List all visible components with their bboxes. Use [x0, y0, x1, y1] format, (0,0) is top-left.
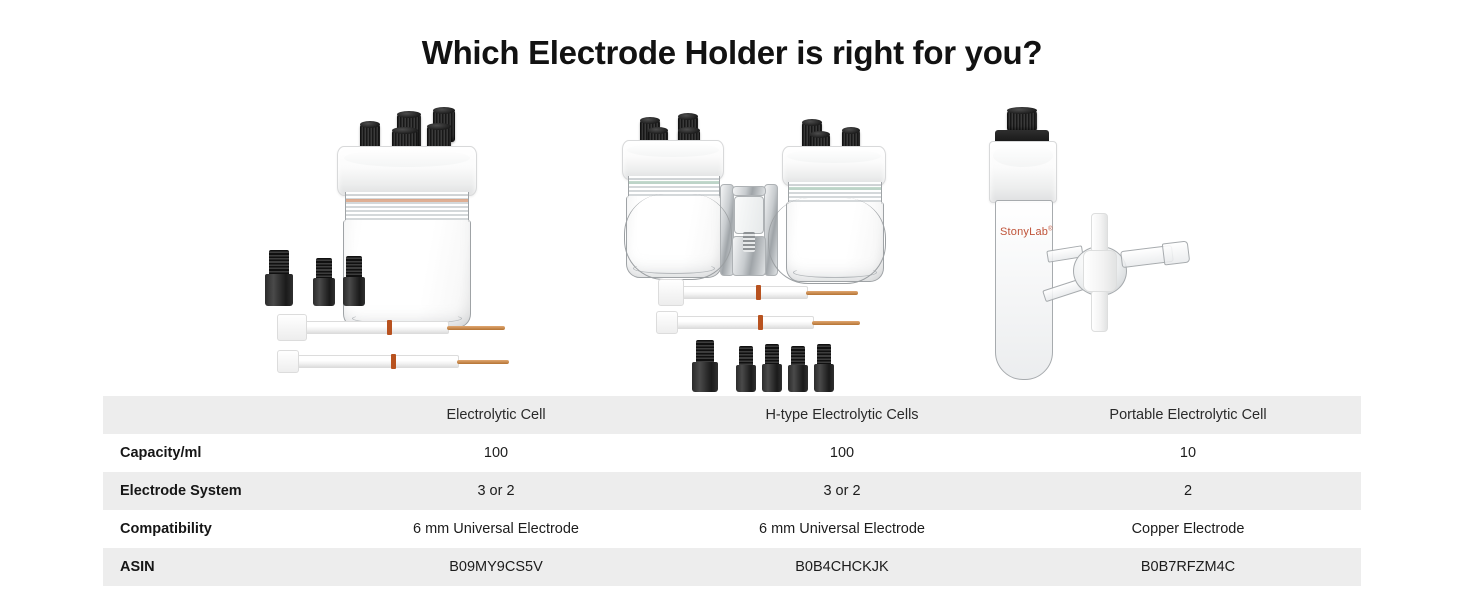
neck-band	[346, 199, 468, 202]
comparison-page: Which Electrode Holder is right for you?	[0, 0, 1464, 600]
cell-compatibility-col-1: 6 mm Universal Electrode	[323, 521, 669, 537]
black-fitting-large	[692, 340, 718, 392]
brand-text: StonyLab	[1000, 226, 1048, 238]
ptfe-lid	[782, 146, 886, 186]
cell-capacity-col-1: 100	[323, 445, 669, 461]
hose-barb-tip	[1162, 240, 1190, 265]
black-fitting-small	[343, 256, 365, 306]
brand-label: StonyLab®	[1000, 226, 1053, 238]
black-fitting-small	[762, 344, 782, 392]
black-fitting-small	[313, 258, 335, 306]
page-title: Which Electrode Holder is right for you?	[0, 34, 1464, 72]
electrode-rod	[660, 286, 808, 299]
registered-mark: ®	[1048, 226, 1053, 232]
row-label-electrode-system: Electrode System	[103, 483, 323, 499]
clamp-arm	[768, 198, 886, 284]
electrode-rod	[279, 355, 459, 368]
black-fitting-small	[814, 344, 834, 392]
black-fitting-small	[788, 346, 808, 392]
stopcock-handle-bottom	[1091, 290, 1108, 332]
table-header-col-3: Portable Electrolytic Cell	[1015, 407, 1361, 423]
row-label-compatibility: Compatibility	[103, 521, 323, 537]
electrode-rod	[658, 316, 814, 329]
cell-electrode-system-col-1: 3 or 2	[323, 483, 669, 499]
row-label-asin: ASIN	[103, 559, 323, 575]
table-row: Compatibility 6 mm Universal Electrode 6…	[103, 510, 1361, 548]
row-label-capacity: Capacity/ml	[103, 445, 323, 461]
product-image-portable-electrolytic-cell: StonyLab®	[955, 108, 1225, 393]
cell-electrode-system-col-2: 3 or 2	[669, 483, 1015, 499]
table-header-row: Electrolytic Cell H-type Electrolytic Ce…	[103, 396, 1361, 434]
neck-band	[789, 187, 881, 190]
glass-neck	[345, 192, 469, 222]
product-image-h-type-electrolytic-cells	[610, 108, 910, 393]
cell-compatibility-col-3: Copper Electrode	[1015, 521, 1361, 537]
cell-asin-col-2: B0B4CHCKJK	[669, 559, 1015, 575]
cell-asin-col-1: B09MY9CS5V	[323, 559, 669, 575]
product-image-electrolytic-cell	[255, 108, 555, 393]
black-fitting-small	[736, 346, 756, 392]
cell-asin-col-3: B0B7RFZM4C	[1015, 559, 1361, 575]
table-header-col-1: Electrolytic Cell	[323, 407, 669, 423]
cell-compatibility-col-2: 6 mm Universal Electrode	[669, 521, 1015, 537]
black-fitting-large	[265, 250, 293, 306]
comparison-table: Electrolytic Cell H-type Electrolytic Ce…	[103, 396, 1361, 586]
ptfe-lid	[337, 146, 477, 196]
cell-capacity-col-2: 100	[669, 445, 1015, 461]
ptfe-lid	[622, 140, 724, 180]
cell-capacity-col-3: 10	[1015, 445, 1361, 461]
table-row: Electrode System 3 or 2 3 or 2 2	[103, 472, 1361, 510]
electrode-rod	[279, 321, 449, 334]
table-row: Capacity/ml 100 100 10	[103, 434, 1361, 472]
cell-electrode-system-col-3: 2	[1015, 483, 1361, 499]
clamp-arm	[624, 194, 732, 280]
table-header-col-2: H-type Electrolytic Cells	[669, 407, 1015, 423]
ptfe-cap	[989, 141, 1057, 203]
product-image-row: StonyLab®	[0, 108, 1464, 393]
stopcock-handle-top	[1091, 213, 1108, 253]
table-row: ASIN B09MY9CS5V B0B4CHCKJK B0B7RFZM4C	[103, 548, 1361, 586]
neck-band	[629, 181, 719, 184]
black-cap-icon	[1007, 110, 1037, 132]
stopcock-hub	[1083, 250, 1117, 292]
